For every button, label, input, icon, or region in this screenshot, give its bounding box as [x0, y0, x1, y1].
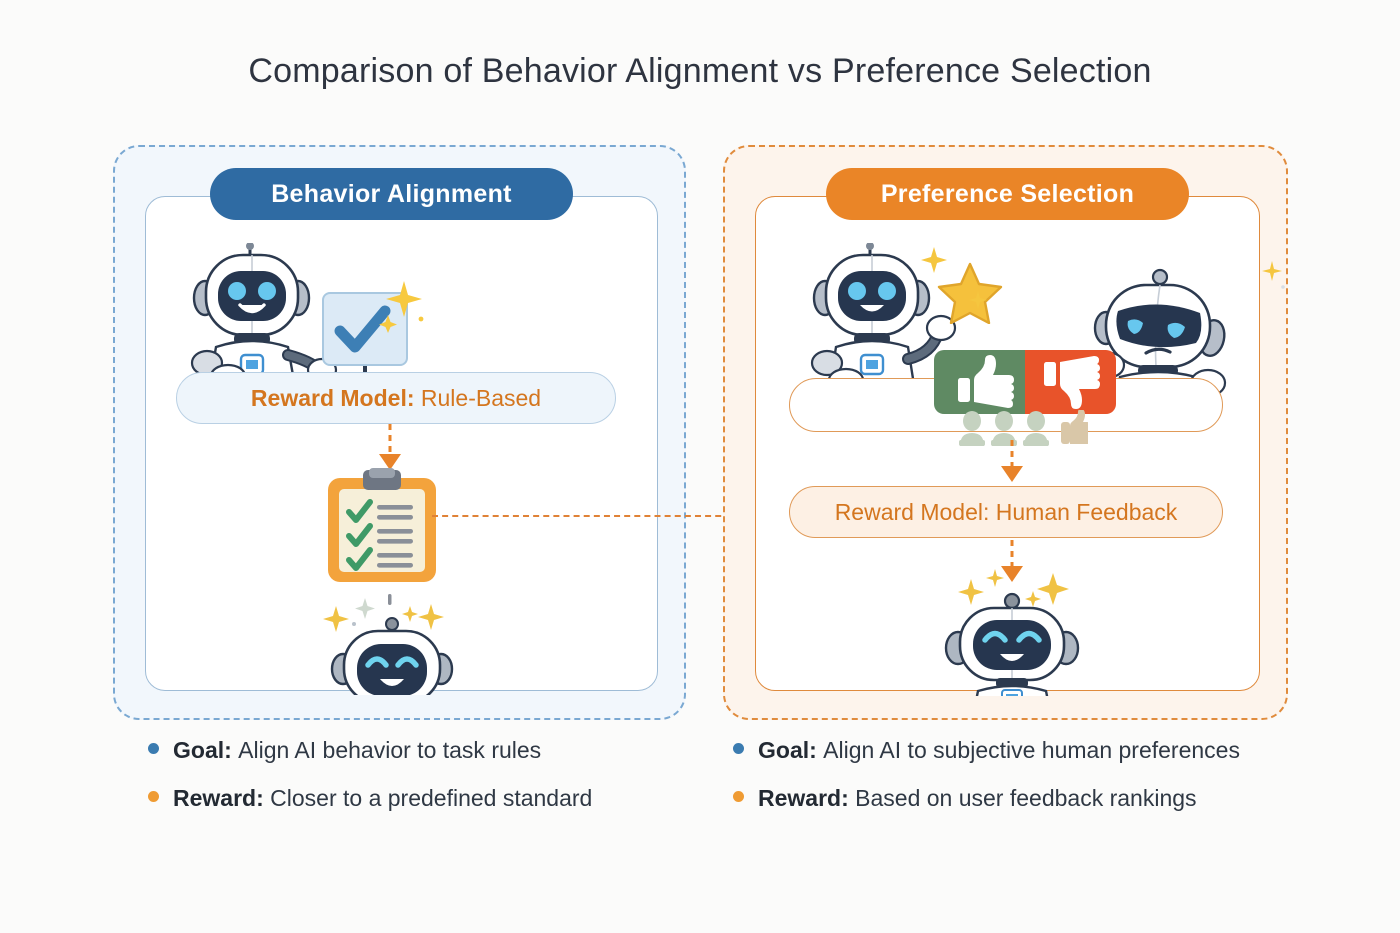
right-reward-text: Based on user feedback rankings — [855, 785, 1196, 811]
right-legend: Goal: Align AI to subjective human prefe… — [733, 737, 1353, 833]
right-goal-label: Goal: — [758, 737, 823, 763]
right-goal-text: Align AI to subjective human preferences — [823, 737, 1240, 763]
right-bottom-smiling-robot — [944, 592, 1080, 696]
bullet-dot-orange — [148, 791, 159, 802]
left-reward-model-value: Rule-Based — [421, 385, 541, 411]
left-reward-label: Reward: — [173, 785, 270, 811]
left-bottom-smiling-robot — [330, 617, 454, 695]
sparkle-icon — [378, 275, 428, 333]
right-reward-label: Reward: — [758, 785, 855, 811]
left-reward-model-label: Reward Model: — [251, 385, 421, 411]
left-goal-label: Goal: — [173, 737, 238, 763]
right-panel-header-label: Preference Selection — [881, 180, 1134, 209]
right-reward-model-value: Human Feedback — [996, 499, 1178, 525]
bullet-dot-orange — [733, 791, 744, 802]
left-goal-text: Align AI behavior to task rules — [238, 737, 541, 763]
right-reward-model-box[interactable]: Reward Model: Human Feedback — [789, 486, 1223, 538]
left-legend-goal-row: Goal: Align AI behavior to task rules — [148, 737, 688, 764]
sparkle-icon — [918, 243, 988, 313]
thumbs-rating-widget[interactable] — [934, 350, 1116, 414]
left-legend-reward-row: Reward: Closer to a predefined standard — [148, 785, 688, 812]
bullet-dot-blue — [148, 743, 159, 754]
page-title: Comparison of Behavior Alignment vs Pref… — [0, 52, 1400, 91]
clipboard-checklist-icon — [322, 468, 444, 584]
bullet-dot-blue — [733, 743, 744, 754]
left-reward-model-box[interactable]: Reward Model: Rule-Based — [176, 372, 616, 424]
right-legend-reward-row: Reward: Based on user feedback rankings — [733, 785, 1353, 812]
sparkle-icon — [1258, 255, 1292, 295]
left-legend: Goal: Align AI behavior to task rules Re… — [148, 737, 688, 833]
right-panel-header-pill[interactable]: Preference Selection — [826, 168, 1189, 220]
diagram-canvas: Comparison of Behavior Alignment vs Pref… — [0, 0, 1400, 933]
left-panel-header-pill[interactable]: Behavior Alignment — [210, 168, 573, 220]
thumb-icon — [1061, 410, 1088, 444]
left-panel-header-label: Behavior Alignment — [271, 180, 512, 209]
right-arrow-down-icon-1 — [1000, 440, 1024, 484]
left-reward-text: Closer to a predefined standard — [270, 785, 592, 811]
left-arrow-down-icon — [378, 424, 402, 470]
right-legend-goal-row: Goal: Align AI to subjective human prefe… — [733, 737, 1353, 764]
right-reward-model-label: Reward Model: — [835, 499, 996, 525]
